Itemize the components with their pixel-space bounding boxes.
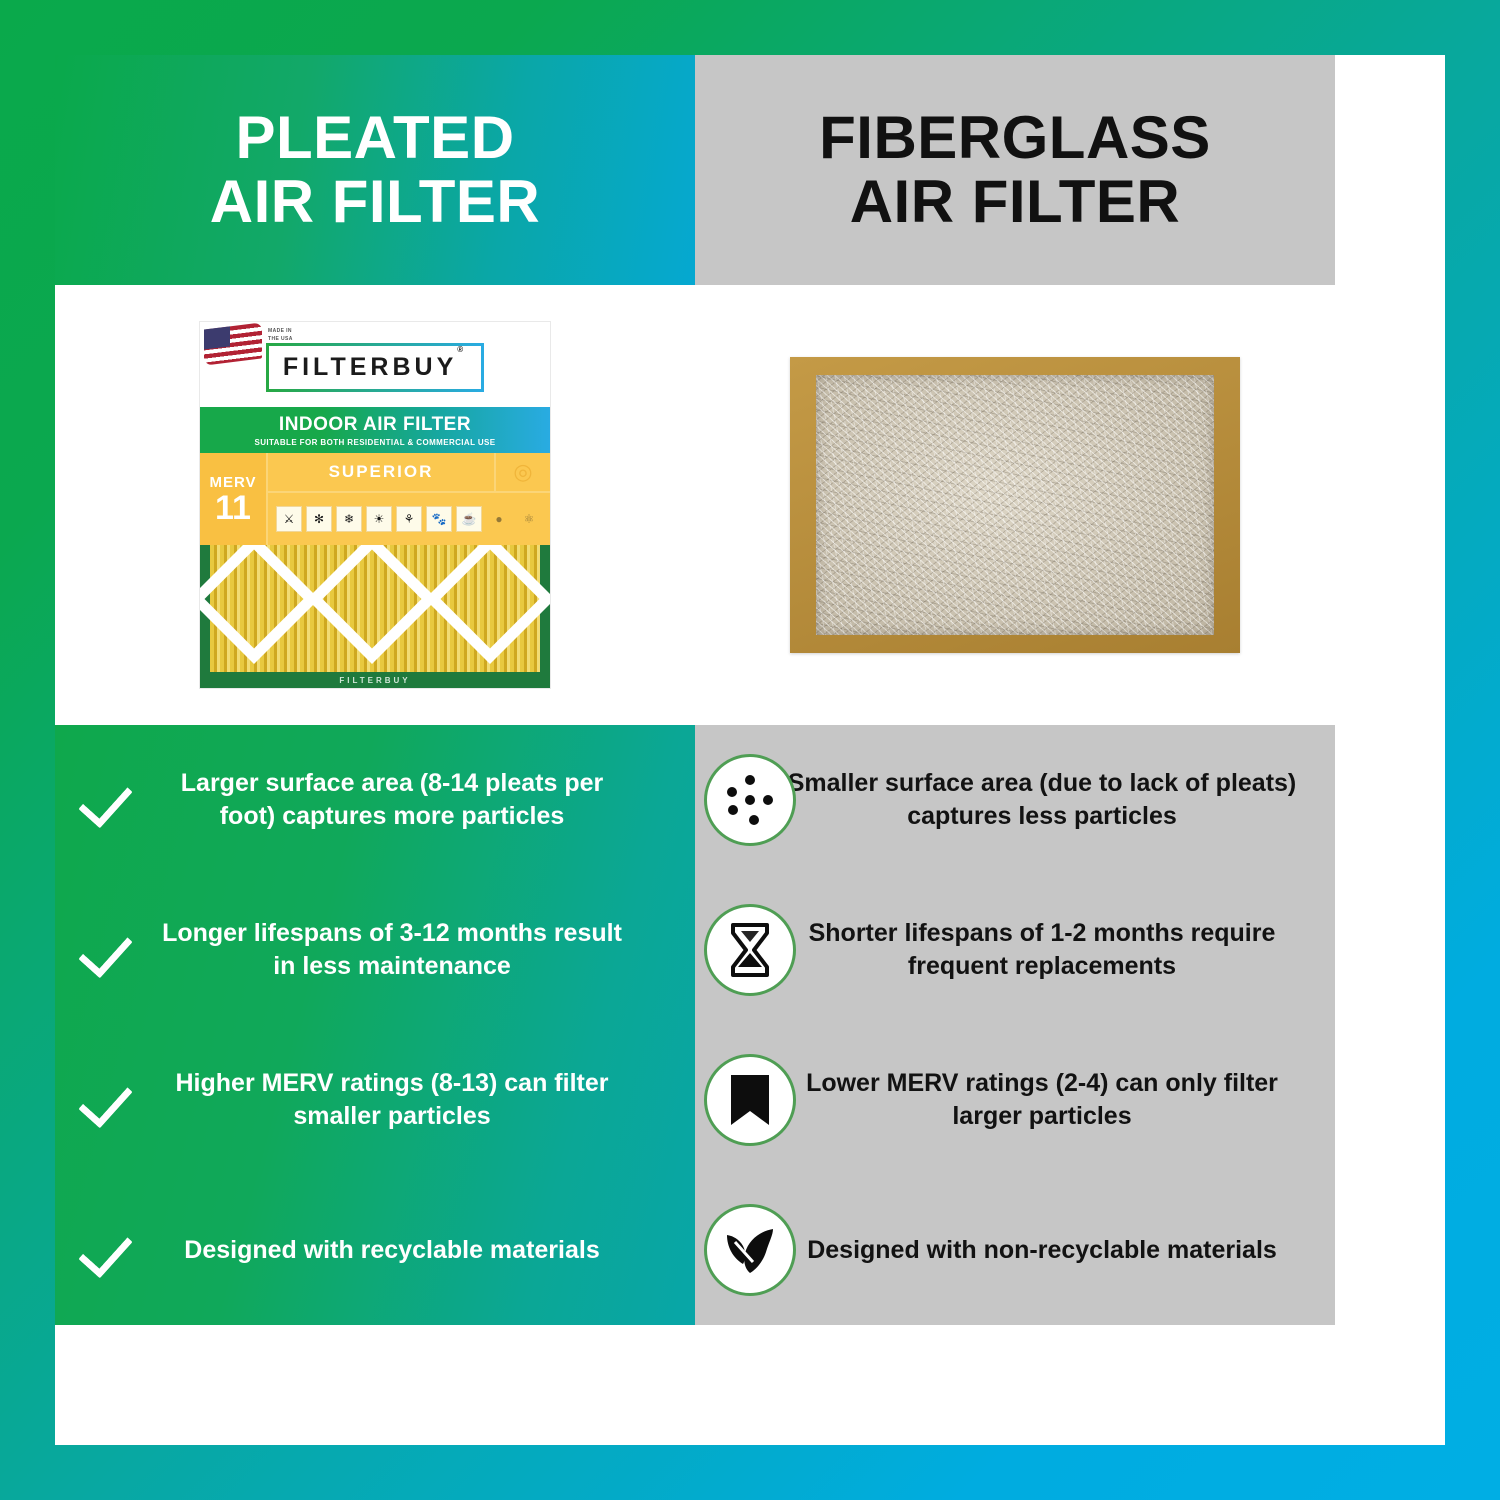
box-band-subtitle: SUITABLE FOR BOTH RESIDENTIAL & COMMERCI… [254, 438, 495, 447]
center-icon-rail [695, 725, 805, 1325]
check-icon [81, 1072, 137, 1128]
bookmark-icon [704, 1054, 796, 1146]
fiberglass-drawback-text: Designed with non-recyclable materials [775, 1234, 1309, 1267]
pleated-benefit-text: Larger surface area (8-14 pleats per foo… [153, 767, 631, 833]
merv-value: 11 [215, 491, 251, 525]
brand-trademark: ® [457, 345, 467, 354]
fiberglass-product-cell [695, 285, 1335, 725]
brand-name: FILTERBUY [283, 353, 457, 381]
icon-slot [695, 725, 805, 875]
made-in-line1: MADE IN [268, 328, 293, 336]
fiberglass-drawback-text: Smaller surface area (due to lack of ple… [775, 767, 1309, 833]
brand-logo-text: FILTERBUY® [283, 353, 467, 382]
particle-dots [723, 773, 777, 827]
comparison-row: Longer lifespans of 3-12 months result i… [55, 875, 695, 1025]
particle-faded-icon: ● [486, 506, 512, 532]
particles-icon [704, 754, 796, 846]
check-icon [81, 922, 137, 978]
made-in-line2: THE USA [268, 336, 293, 344]
particle-dot [745, 795, 755, 805]
tier-row: SUPERIOR ◎ [268, 453, 550, 493]
box-merv-row: MERV 11 SUPERIOR ◎ ⚔ ✻ ❄ ☀ ⚘ 🐾 [200, 453, 550, 545]
pleated-media-area: FILTERBUY [200, 545, 550, 688]
box-band-title: INDOOR AIR FILTER [279, 414, 471, 436]
virus-faded-icon: ⚛ [516, 506, 542, 532]
mold-icon: ☀ [366, 506, 392, 532]
pleated-benefit-text: Longer lifespans of 3-12 months result i… [153, 917, 631, 983]
comparison-row: Larger surface area (8-14 pleats per foo… [55, 725, 695, 875]
pollen-icon: ❄ [336, 506, 362, 532]
merv-badge: MERV 11 [200, 453, 268, 545]
particle-dot [727, 787, 737, 797]
box-footer-brand: FILTERBUY [200, 672, 550, 688]
pleated-filter-box-image: MADE IN THE USA FILTERBUY® INDOOR AIR FI… [200, 322, 550, 688]
bug-icon: ✻ [306, 506, 332, 532]
tier-label: SUPERIOR [268, 462, 494, 482]
certification-seal-icon: ◎ [494, 453, 550, 491]
pleated-benefit-text: Higher MERV ratings (8-13) can filter sm… [153, 1067, 631, 1133]
made-in-usa-text: MADE IN THE USA [268, 328, 293, 343]
icon-slot [695, 1025, 805, 1175]
particle-dot [763, 795, 773, 805]
bacteria-icon: ⚘ [396, 506, 422, 532]
header-fiberglass-title: FIBERGLASSAIR FILTER [819, 106, 1211, 234]
check-icon [81, 772, 137, 828]
fiberglass-drawback-text: Lower MERV ratings (2-4) can only filter… [775, 1067, 1309, 1133]
pet-dander-icon: 🐾 [426, 506, 452, 532]
smoke-icon: ☕ [456, 506, 482, 532]
leaf-sprout-icon [704, 1204, 796, 1296]
box-logo-area: MADE IN THE USA FILTERBUY® [200, 322, 550, 407]
particle-dot [745, 775, 755, 785]
comparison-row: Higher MERV ratings (8-13) can filter sm… [55, 1025, 695, 1175]
header-pleated-title: PLEATEDAIR FILTER [210, 106, 541, 234]
product-image-strip: MADE IN THE USA FILTERBUY® INDOOR AIR FI… [55, 285, 1335, 725]
capability-icon-row: ⚔ ✻ ❄ ☀ ⚘ 🐾 ☕ ● ⚛ [268, 493, 550, 545]
dust-icon: ⚔ [276, 506, 302, 532]
header-pleated: PLEATEDAIR FILTER [55, 55, 695, 285]
fiberglass-filter-image [790, 357, 1240, 653]
comparison-left-column: Larger surface area (8-14 pleats per foo… [55, 725, 695, 1325]
comparison-row: Designed with recyclable materials [55, 1175, 695, 1325]
usa-flag-icon [204, 322, 262, 365]
check-icon [81, 1222, 137, 1278]
header-fiberglass: FIBERGLASSAIR FILTER [695, 55, 1335, 285]
particle-dot [728, 805, 738, 815]
pleated-benefit-text: Designed with recyclable materials [153, 1234, 631, 1267]
fiberglass-drawback-text: Shorter lifespans of 1-2 months require … [775, 917, 1309, 983]
icon-slot [695, 1175, 805, 1325]
fiberglass-media-texture [816, 375, 1214, 635]
box-indoor-band: INDOOR AIR FILTER SUITABLE FOR BOTH RESI… [200, 407, 550, 453]
brand-logo-frame: FILTERBUY® [266, 343, 484, 392]
particle-dot [749, 815, 759, 825]
header-band: PLEATEDAIR FILTER FIBERGLASSAIR FILTER [55, 55, 1335, 285]
icon-slot [695, 875, 805, 1025]
merv-label: MERV [209, 474, 256, 491]
merv-right-area: SUPERIOR ◎ ⚔ ✻ ❄ ☀ ⚘ 🐾 ☕ ● ⚛ [268, 453, 550, 545]
hourglass-icon [704, 904, 796, 996]
pleated-product-cell: MADE IN THE USA FILTERBUY® INDOOR AIR FI… [55, 285, 695, 725]
